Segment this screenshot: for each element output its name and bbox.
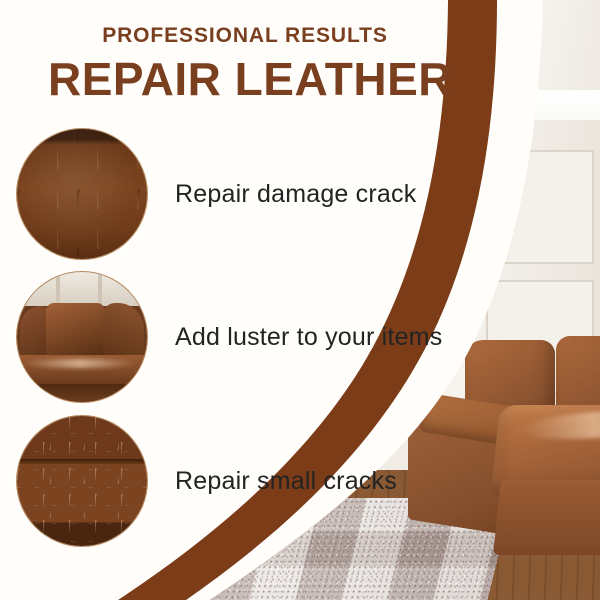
thumb2-window (17, 272, 147, 306)
feature-label-2: Add luster to your items (175, 323, 442, 352)
thumb2-cushion-left (20, 306, 49, 358)
thumb2-window-bar (98, 272, 102, 306)
thumb2-cushion-middle (46, 303, 106, 358)
feature-item: Repair damage crack (16, 128, 416, 260)
page-title: REPAIR LEATHER (0, 52, 600, 106)
feature-label-3: Repair small cracks (175, 467, 397, 496)
poster-canvas: PROFESSIONAL RESULTS REPAIR LEATHER Repa… (0, 0, 600, 600)
leather-sofa-glossy-restored-icon (17, 272, 147, 402)
thumb3-seam (17, 459, 147, 464)
door-panel-upper (486, 150, 594, 264)
feature-item: Repair small cracks (16, 415, 397, 547)
feature-item: Add luster to your items (16, 271, 442, 403)
feature-label-1: Repair damage crack (175, 180, 416, 209)
feature-thumbnail-3 (16, 415, 148, 547)
feature-thumbnail-1 (16, 128, 148, 260)
leather-closeup-dark-brown-cracked-icon (17, 129, 147, 259)
thumb2-cushion-right (103, 303, 145, 360)
ottoman-base (493, 480, 600, 555)
kicker-text: PROFESSIONAL RESULTS (0, 24, 600, 48)
feature-thumbnail-2 (16, 271, 148, 403)
thumb2-base (17, 384, 147, 402)
thumb2-window-bar (56, 272, 60, 306)
leather-seam-small-cracks-icon (17, 416, 147, 546)
thumb3-crackle-texture (17, 416, 147, 546)
